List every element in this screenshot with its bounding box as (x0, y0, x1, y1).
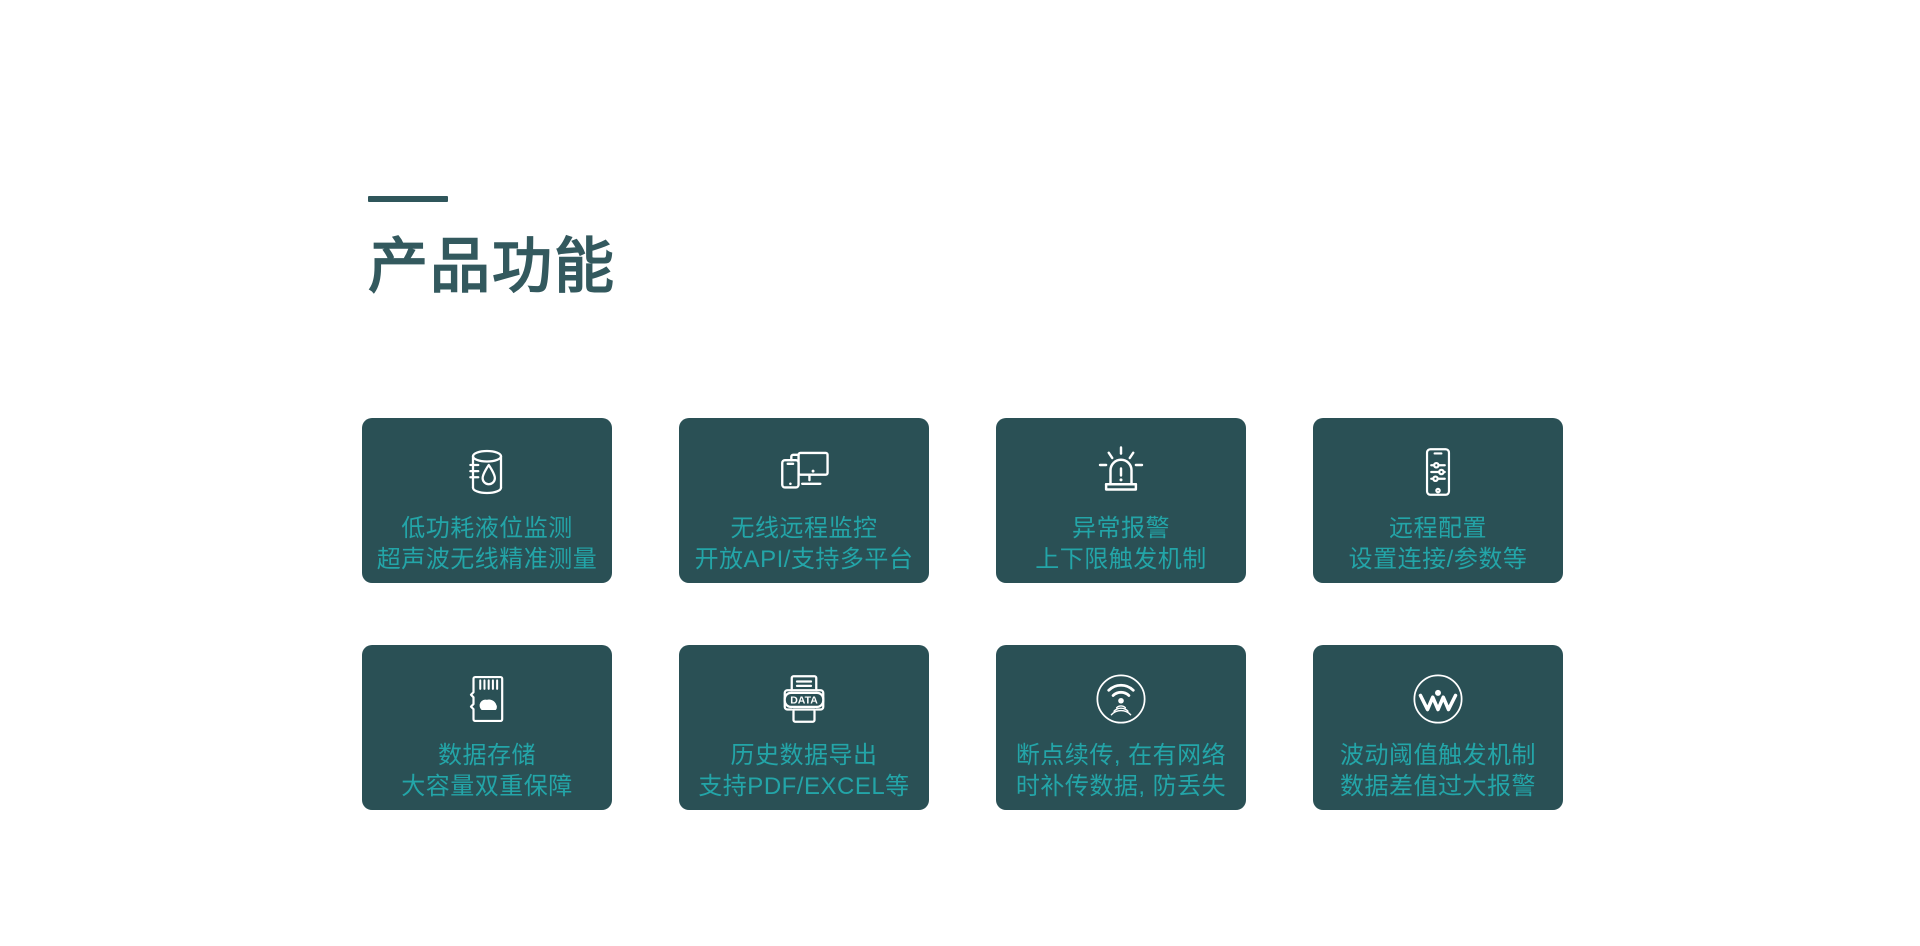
feature-card-text: 波动阈值触发机制 数据差值过大报警 (1340, 740, 1536, 802)
feature-card-line2: 设置连接/参数等 (1349, 544, 1528, 575)
sd-card-cloud-icon (456, 668, 518, 730)
feature-card[interactable]: 数据存储 大容量双重保障 (362, 645, 612, 810)
feature-card[interactable]: 异常报警 上下限触发机制 (996, 418, 1246, 583)
feature-card[interactable]: DATA 历史数据导出 支持PDF/EXCEL等 (679, 645, 929, 810)
feature-card[interactable]: 无线远程监控 开放API/支持多平台 (679, 418, 929, 583)
feature-card-line2: 支持PDF/EXCEL等 (698, 771, 909, 802)
feature-card-line1: 断点续传, 在有网络 (1016, 740, 1226, 771)
feature-card-grid: 低功耗液位监测 超声波无线精准测量 无线远程监控 开 (362, 418, 1564, 810)
liquid-tank-icon (456, 441, 518, 503)
phone-sliders-icon (1407, 441, 1469, 503)
feature-card-line2: 开放API/支持多平台 (695, 544, 914, 575)
feature-card-text: 异常报警 上下限触发机制 (1035, 513, 1207, 575)
page-title: 产品功能 (368, 236, 616, 298)
feature-card-line2: 大容量双重保障 (401, 771, 573, 802)
feature-card-line2: 时补传数据, 防丢失 (1016, 771, 1226, 802)
feature-card-line1: 异常报警 (1035, 513, 1207, 544)
wave-threshold-circle-icon (1407, 668, 1469, 730)
feature-card-text: 远程配置 设置连接/参数等 (1349, 513, 1528, 575)
feature-card-line2: 超声波无线精准测量 (377, 544, 598, 575)
product-features-section: 产品功能 低功耗液位监测 超声波无线精准测量 (0, 0, 1920, 946)
feature-card-line1: 波动阈值触发机制 (1340, 740, 1536, 771)
feature-card[interactable]: 波动阈值触发机制 数据差值过大报警 (1313, 645, 1563, 810)
feature-card-line2: 上下限触发机制 (1035, 544, 1207, 575)
feature-card-line1: 低功耗液位监测 (377, 513, 598, 544)
alarm-siren-icon (1090, 441, 1152, 503)
feature-card-text: 断点续传, 在有网络 时补传数据, 防丢失 (1016, 740, 1226, 802)
feature-card-text: 无线远程监控 开放API/支持多平台 (695, 513, 914, 575)
feature-card-line1: 历史数据导出 (698, 740, 909, 771)
section-heading: 产品功能 (368, 196, 616, 298)
feature-card-line2: 数据差值过大报警 (1340, 771, 1536, 802)
feature-card-text: 低功耗液位监测 超声波无线精准测量 (377, 513, 598, 575)
feature-card[interactable]: 断点续传, 在有网络 时补传数据, 防丢失 (996, 645, 1246, 810)
feature-card-text: 数据存储 大容量双重保障 (401, 740, 573, 802)
feature-card-line1: 无线远程监控 (695, 513, 914, 544)
monitor-phone-icon (773, 441, 835, 503)
heading-accent-bar (368, 196, 448, 202)
feature-card[interactable]: 低功耗液位监测 超声波无线精准测量 (362, 418, 612, 583)
feature-card[interactable]: 远程配置 设置连接/参数等 (1313, 418, 1563, 583)
feature-card-line1: 数据存储 (401, 740, 573, 771)
printer-data-badge: DATA (790, 694, 818, 706)
feature-card-text: 历史数据导出 支持PDF/EXCEL等 (698, 740, 909, 802)
feature-card-line1: 远程配置 (1349, 513, 1528, 544)
data-printer-icon: DATA (773, 668, 835, 730)
wifi-signal-circle-icon (1090, 668, 1152, 730)
